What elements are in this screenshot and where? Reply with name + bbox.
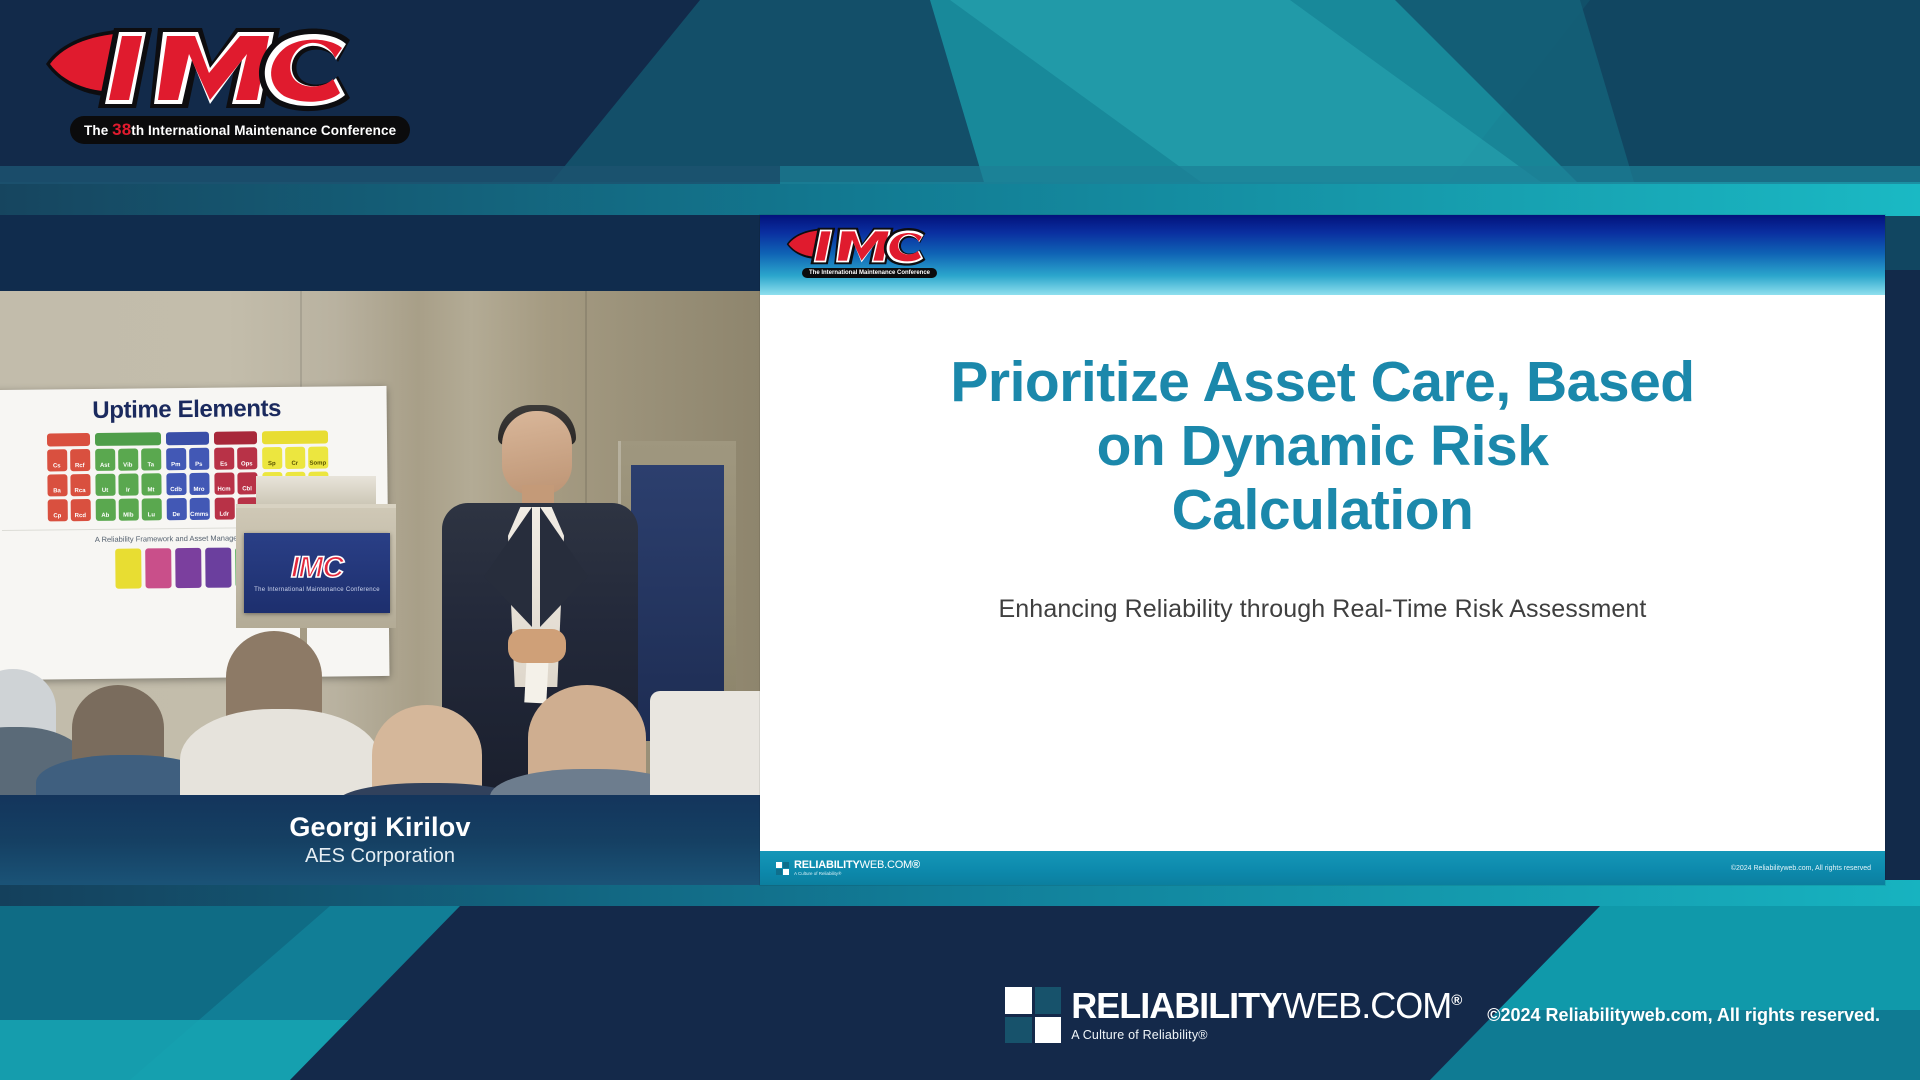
audience-body xyxy=(650,691,760,795)
slide-footer-copyright: ©2024 Reliabilityweb.com, All rights res… xyxy=(1731,865,1871,872)
podium-imc-sign: IMC The International Maintenance Confer… xyxy=(244,533,390,613)
speaker-name: Georgi Kirilov xyxy=(289,812,470,843)
slide-title-line-1: Prioritize Asset Care, Based xyxy=(863,351,1783,415)
podium-imc-subtitle: The International Maintenance Conference xyxy=(254,587,380,593)
slide-footer-brand: RELIABILITYWEB.COM® xyxy=(794,860,920,871)
video-frame: Uptime Elements CsRcf BaRca CpRcd AstVib… xyxy=(0,291,760,795)
imc-tagline-prefix: The xyxy=(84,123,112,138)
imc-edition-number: 38 xyxy=(112,120,131,139)
presenter-head xyxy=(502,411,572,495)
speaker-organization: AES Corporation xyxy=(305,845,455,868)
presenter-hands xyxy=(508,629,566,663)
reliabilityweb-name: RELIABILITYWEB.COM® xyxy=(1071,988,1461,1024)
slide-footer-tagline: A Culture of Reliability® xyxy=(794,872,920,877)
footer-brand-bold: RELIABILITY xyxy=(1071,985,1282,1026)
slide-footer-brand-reg: ® xyxy=(912,859,920,871)
imc-conference-logo: The 38th International Maintenance Confe… xyxy=(40,20,370,150)
video-top-bar xyxy=(0,215,760,291)
page-footer: RELIABILITYWEB.COM® A Culture of Reliabi… xyxy=(0,950,1920,1080)
speaker-nameplate: Georgi Kirilov AES Corporation xyxy=(0,795,760,885)
audience-head xyxy=(372,705,482,795)
reliabilityweb-tagline: A Culture of Reliability® xyxy=(1071,1029,1461,1042)
slide-imc-wordmark-icon xyxy=(784,223,934,267)
imc-tagline-suffix: th International Maintenance Conference xyxy=(131,123,396,138)
poster-column: AstVibTa UtIrMt AbMlbLu xyxy=(94,432,161,521)
slide-footer-brand-bold: RELIABILITY xyxy=(794,859,860,871)
slide-imc-logo: The International Maintenance Conference xyxy=(784,223,934,291)
speaker-video-panel[interactable]: Uptime Elements CsRcf BaRca CpRcd AstVib… xyxy=(0,215,760,885)
audience-body xyxy=(180,709,380,795)
slide-reliabilityweb-logo: RELIABILITYWEB.COM® A Culture of Reliabi… xyxy=(776,860,920,877)
slide-body: Prioritize Asset Care, Based on Dynamic … xyxy=(760,295,1885,851)
page-copyright: ©2024 Reliabilityweb.com, All rights res… xyxy=(1487,1005,1880,1026)
poster-column: PmPs CdbMro DeCmms xyxy=(165,432,209,520)
slide-footer-bar: RELIABILITYWEB.COM® A Culture of Reliabi… xyxy=(760,851,1885,885)
imc-wordmark-icon xyxy=(40,20,360,112)
podium-imc-letters: IMC xyxy=(291,553,343,583)
slide-title-line-3: Calculation xyxy=(863,479,1783,543)
slide-title: Prioritize Asset Care, Based on Dynamic … xyxy=(863,351,1783,542)
poster-column: CsRcf BaRca CpRcd xyxy=(46,433,90,521)
footer-brand-reg: ® xyxy=(1451,992,1461,1009)
slide-header-band: The International Maintenance Conference xyxy=(760,215,1885,295)
slide-footer-brand-light: WEB.COM xyxy=(860,859,912,871)
footer-brand-light: WEB.COM xyxy=(1282,985,1451,1026)
poster-title: Uptime Elements xyxy=(0,394,387,426)
reliabilityweb-logo: RELIABILITYWEB.COM® A Culture of Reliabi… xyxy=(1005,987,1461,1043)
reliabilityweb-mark-icon xyxy=(776,862,789,875)
slide-subtitle: Enhancing Reliability through Real-Time … xyxy=(823,595,1823,624)
presentation-slide-panel[interactable]: The International Maintenance Conference… xyxy=(760,215,1885,885)
slide-imc-tagline: The International Maintenance Conference xyxy=(802,268,937,278)
reliabilityweb-mark-icon xyxy=(1005,987,1061,1043)
slide-title-line-2: on Dynamic Risk xyxy=(863,415,1783,479)
imc-tagline: The 38th International Maintenance Confe… xyxy=(70,116,410,144)
